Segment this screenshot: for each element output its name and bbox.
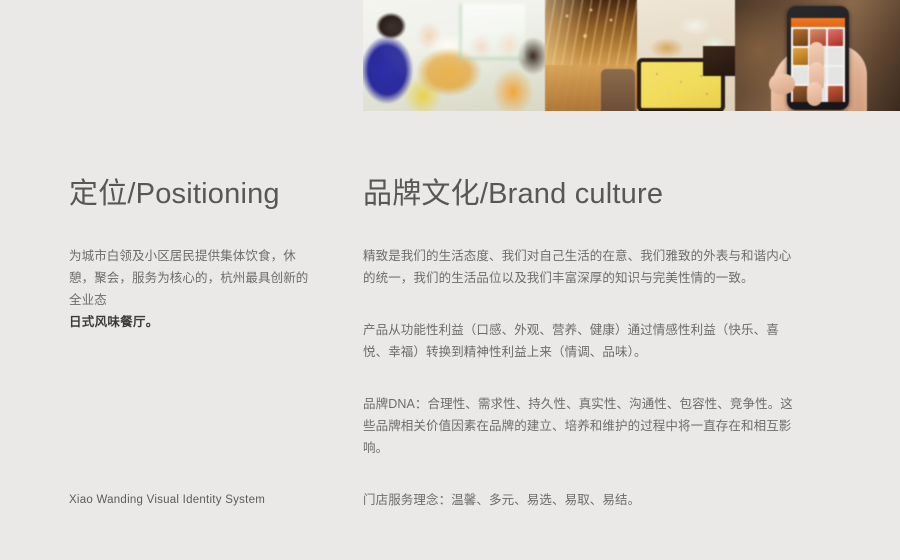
section-positioning: 定位/Positioning 为城市白领及小区居民提供集体饮食，休憩，聚会，服务… [69, 178, 319, 333]
brand-culture-heading: 品牌文化/Brand culture [363, 178, 795, 211]
photo-restaurant-interior [545, 0, 637, 111]
brand-culture-paragraph: 精致是我们的生活态度、我们对自己生活的在意、我们雅致的外表与和谐内心的统一，我们… [363, 245, 795, 289]
photo-japanese-dishes [637, 0, 735, 111]
photo-strip [363, 0, 900, 111]
slide-canvas: 定位/Positioning 为城市白领及小区居民提供集体饮食，休憩，聚会，服务… [0, 0, 900, 560]
app-grid-cell [828, 67, 843, 84]
finger-shape [807, 82, 822, 106]
brand-culture-paragraph: 产品从功能性利益（口感、外观、营养、健康）通过情感性利益（快乐、喜悦、幸福）转换… [363, 319, 795, 363]
positioning-heading: 定位/Positioning [69, 178, 319, 211]
brand-culture-heading-zh: 品牌文化 [363, 178, 480, 210]
photo-friends-toasting-beer [363, 0, 545, 111]
positioning-heading-en: Positioning [136, 178, 280, 210]
section-brand-culture: 品牌文化/Brand culture 精致是我们的生活态度、我们对自己生活的在意… [363, 178, 795, 511]
app-grid-cell [793, 67, 808, 84]
positioning-paragraph-emphasis: 日式风味餐厅。 [69, 311, 319, 333]
positioning-heading-separator: / [127, 178, 135, 210]
brand-culture-heading-separator: / [480, 178, 488, 210]
app-grid-cell [793, 29, 808, 46]
photo-mobile-ordering-app [735, 0, 900, 111]
footer-caption: Xiao Wanding Visual Identity System [69, 492, 265, 508]
brand-culture-paragraph: 品牌DNA：合理性、需求性、持久性、真实性、沟通性、包容性、竞争性。这些品牌相关… [363, 393, 795, 459]
thumb-shape [769, 74, 795, 94]
positioning-paragraph-text: 为城市白领及小区居民提供集体饮食，休憩，聚会，服务为核心的，杭州最具创新的全业态 [69, 249, 308, 307]
app-grid-cell [828, 86, 843, 102]
app-grid-cell [828, 48, 843, 65]
app-grid-cell [793, 48, 808, 65]
positioning-paragraph: 为城市白领及小区居民提供集体饮食，休憩，聚会，服务为核心的，杭州最具创新的全业态… [69, 245, 319, 333]
app-grid-cell [828, 29, 843, 46]
app-header-bar [791, 18, 845, 27]
brand-culture-heading-en: Brand culture [488, 178, 663, 210]
brand-culture-paragraph: 门店服务理念：温馨、多元、易选、易取、易结。 [363, 489, 795, 511]
positioning-heading-zh: 定位 [69, 178, 127, 210]
